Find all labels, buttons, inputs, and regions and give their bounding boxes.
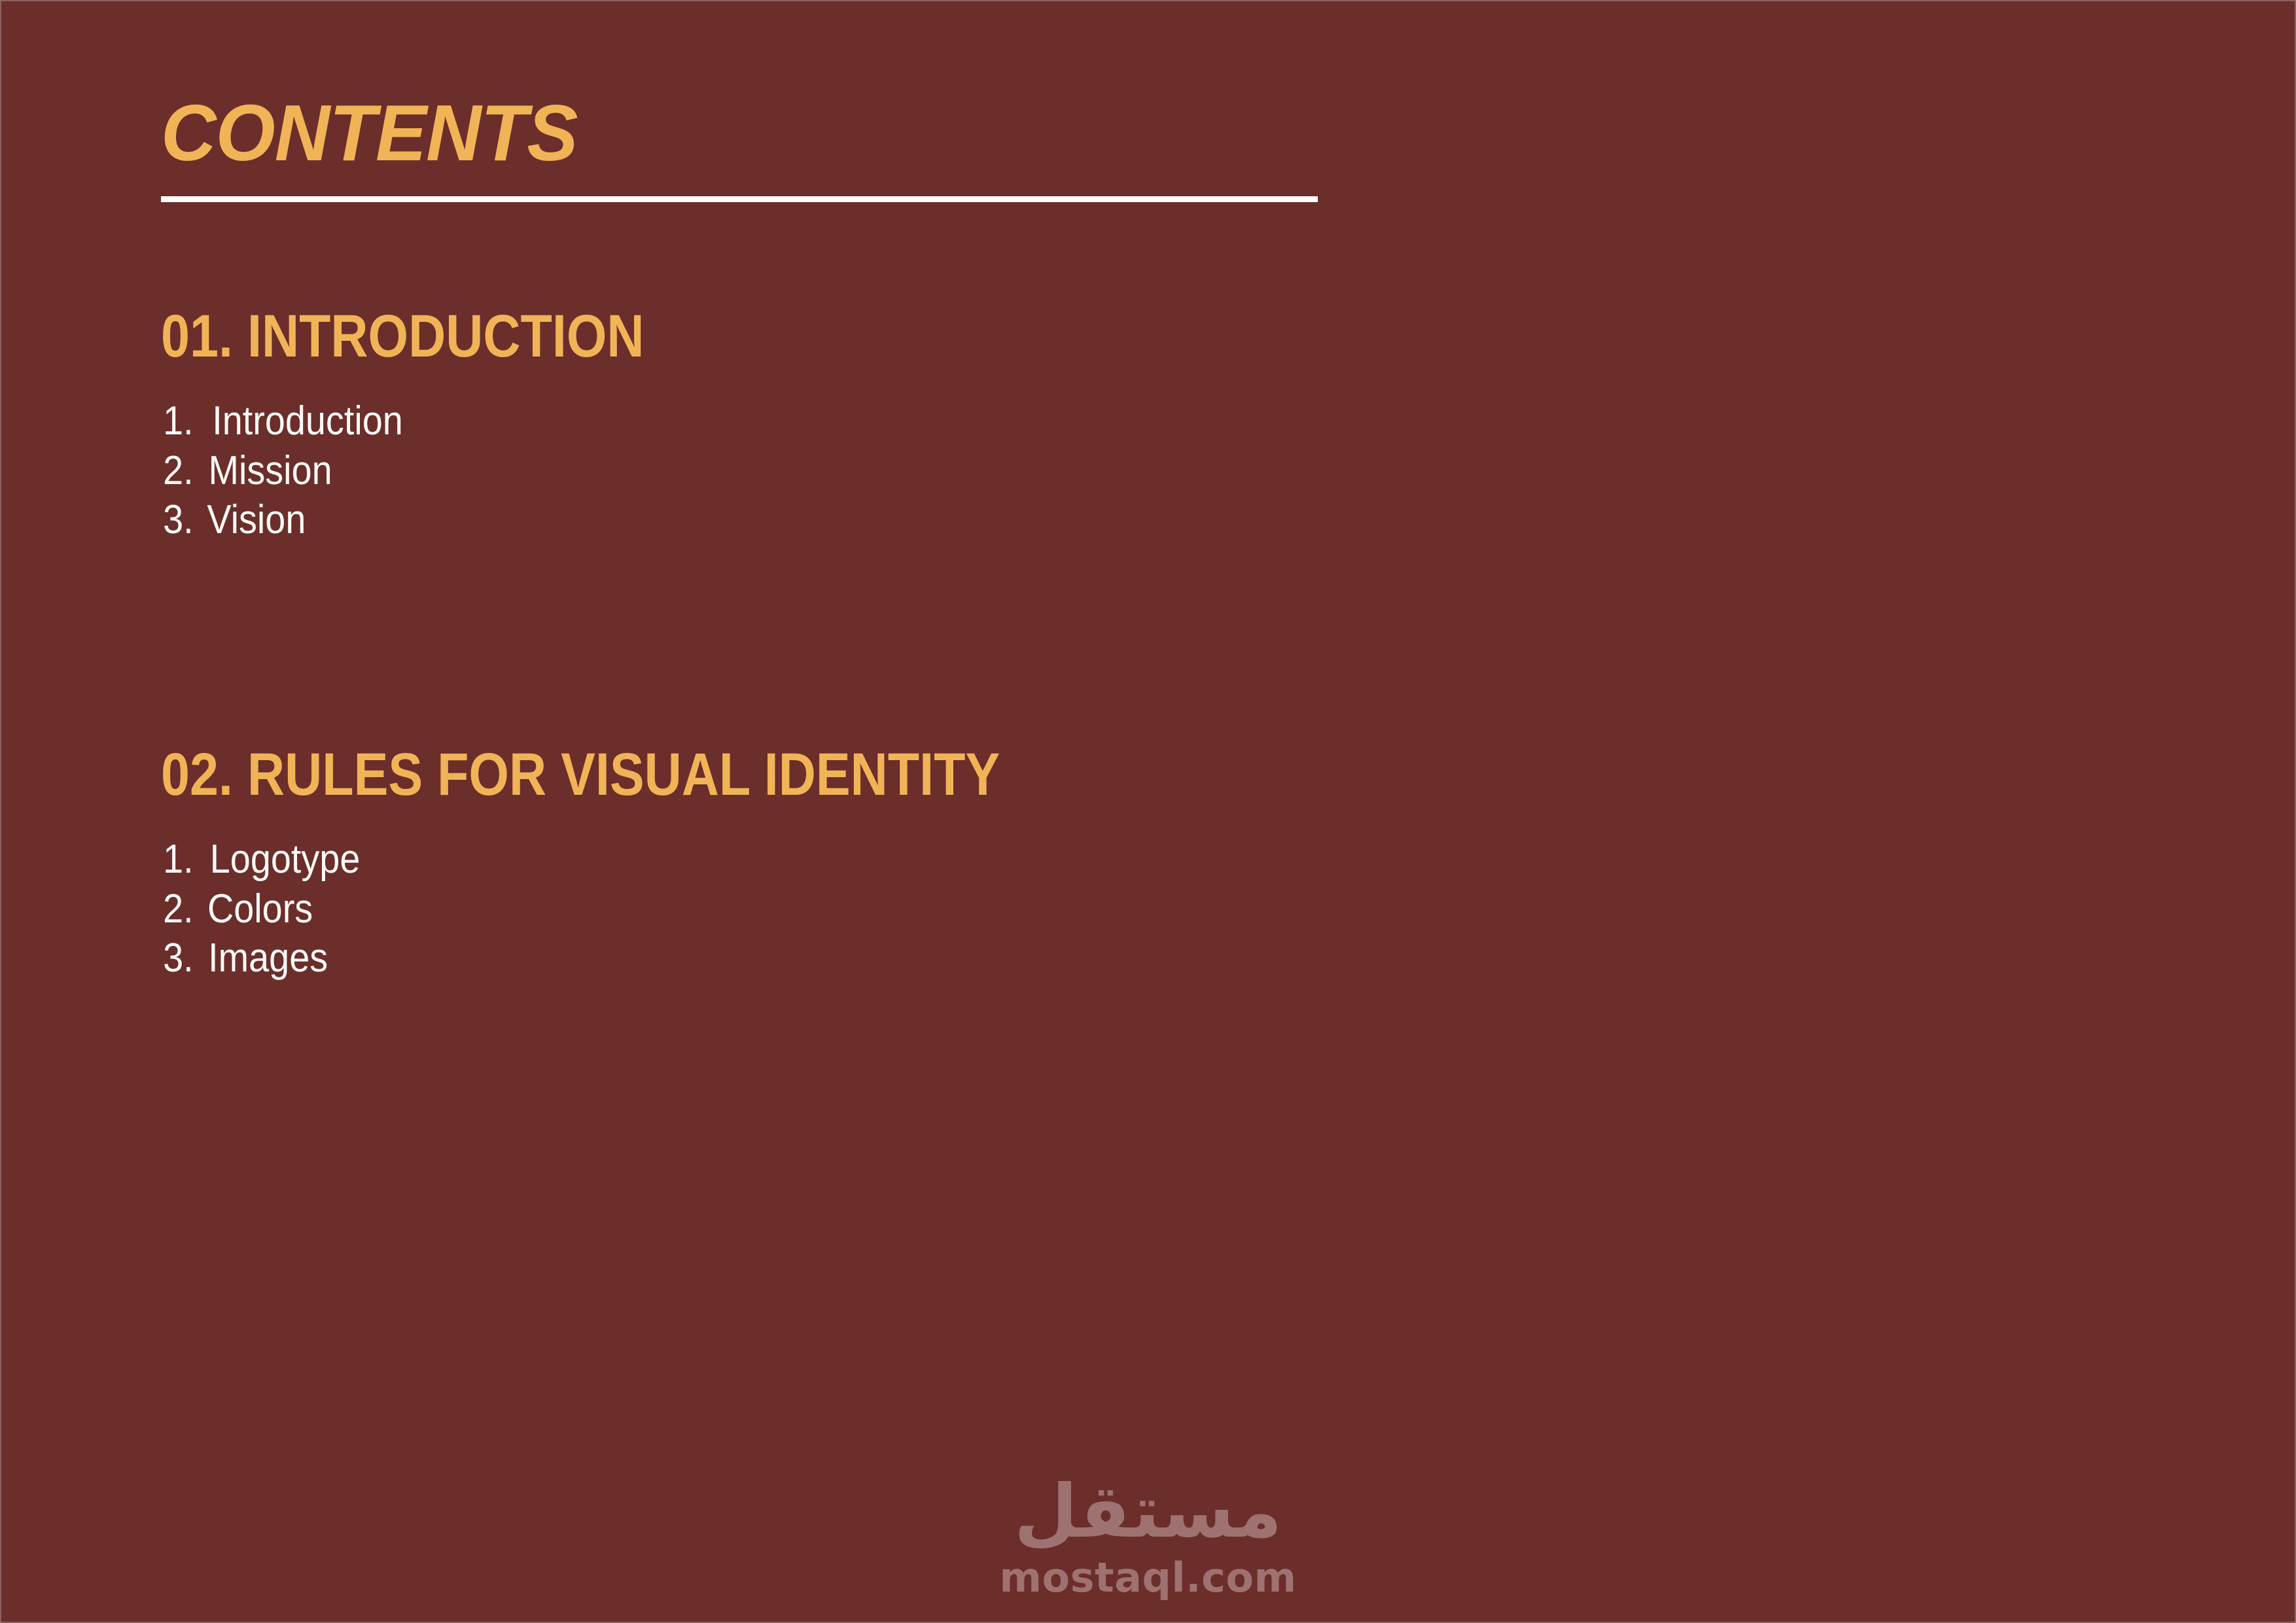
- list-item[interactable]: 1. Logotype: [161, 835, 1137, 884]
- section-list-rules-for-visual-identity: 1. Logotype 2. Colors 3. Images: [161, 835, 1137, 983]
- list-item-number: 1.: [163, 396, 200, 446]
- section-introduction: 01. INTRODUCTION 1. Introduction 2. Miss…: [161, 306, 723, 545]
- list-item-label: Mission: [209, 446, 332, 496]
- list-item-number: 1.: [163, 835, 200, 884]
- page-title: CONTENTS: [161, 93, 1273, 173]
- list-item[interactable]: 2. Colors: [161, 884, 1137, 934]
- list-item-number: 2.: [163, 446, 200, 496]
- list-item-label: Introduction: [212, 396, 403, 446]
- section-rules-for-visual-identity: 02. RULES FOR VISUAL IDENTITY 1. Logotyp…: [161, 744, 1137, 983]
- list-item-label: Colors: [207, 884, 313, 934]
- list-item[interactable]: 2. Mission: [161, 446, 723, 496]
- list-item-number: 3.: [163, 934, 200, 983]
- list-item-label: Images: [208, 934, 328, 983]
- section-heading-rules-for-visual-identity: 02. RULES FOR VISUAL IDENTITY: [161, 744, 1000, 805]
- title-block: CONTENTS: [161, 93, 1319, 202]
- list-item-number: 2.: [163, 884, 200, 934]
- list-item[interactable]: 1. Introduction: [161, 396, 723, 446]
- mostaql-watermark: مستقل mostaql.com: [1, 1475, 2295, 1598]
- list-item-number: 3.: [163, 495, 200, 545]
- section-heading-introduction: 01. INTRODUCTION: [161, 306, 645, 366]
- mostaql-arabic-wordmark: مستقل: [1014, 1475, 1282, 1548]
- contents-slide: CONTENTS 01. INTRODUCTION 1. Introductio…: [0, 0, 2296, 1623]
- list-item[interactable]: 3. Images: [161, 934, 1137, 983]
- mostaql-domain-text: mostaql.com: [999, 1558, 1296, 1598]
- title-divider-rule: [161, 196, 1318, 202]
- list-item-label: Vision: [207, 495, 306, 545]
- section-list-introduction: 1. Introduction 2. Mission 3. Vision: [161, 396, 723, 545]
- list-item-label: Logotype: [210, 835, 361, 884]
- list-item[interactable]: 3. Vision: [161, 495, 723, 545]
